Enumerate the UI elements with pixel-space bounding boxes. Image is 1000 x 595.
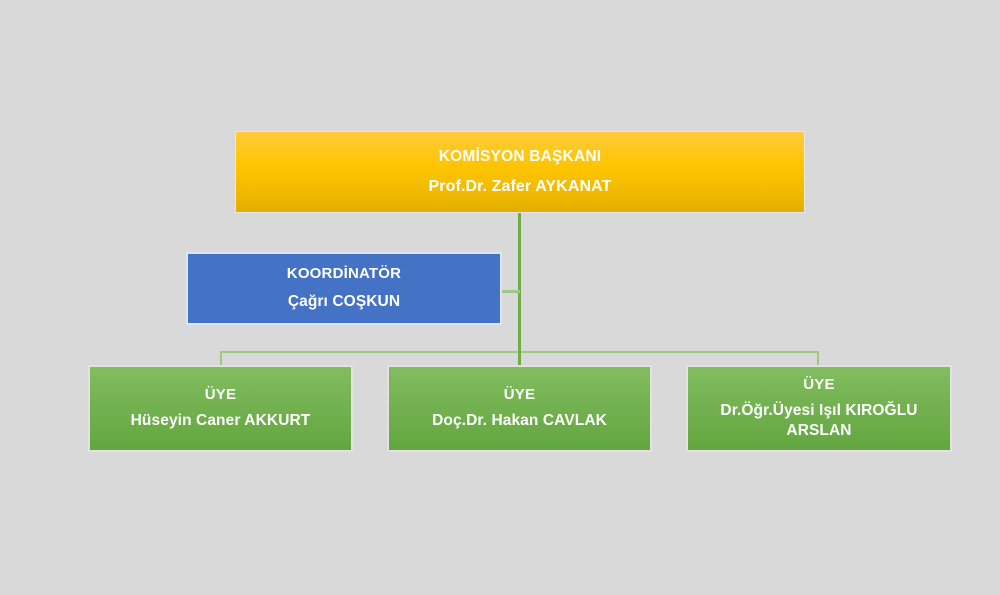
node-commission-chief[interactable]: KOMİSYON BAŞKANI Prof.Dr. Zafer AYKANAT: [235, 131, 805, 213]
node-member-1[interactable]: ÜYE Hüseyin Caner AKKURT: [88, 365, 353, 452]
node-role-label: ÜYE: [504, 386, 535, 404]
node-person-name: Hüseyin Caner AKKURT: [131, 412, 311, 431]
node-role-label: KOMİSYON BAŞKANI: [439, 148, 602, 167]
connector-drop-member-3: [817, 351, 819, 366]
node-person-name: Doç.Dr. Hakan CAVLAK: [432, 412, 607, 431]
node-role-label: ÜYE: [803, 376, 834, 394]
connector-drop-member-1: [220, 351, 222, 366]
node-member-2[interactable]: ÜYE Doç.Dr. Hakan CAVLAK: [387, 365, 652, 452]
node-person-name: Dr.Öğr.Üyesi Işıl KIROĞLU ARSLAN: [696, 401, 942, 441]
node-person-name: Çağrı COŞKUN: [288, 293, 400, 312]
connector-trunk-vertical: [518, 213, 521, 353]
connector-drop-member-2: [518, 351, 521, 366]
node-role-label: KOORDİNATÖR: [287, 265, 401, 283]
node-member-3[interactable]: ÜYE Dr.Öğr.Üyesi Işıl KIROĞLU ARSLAN: [686, 365, 952, 452]
org-chart: KOMİSYON BAŞKANI Prof.Dr. Zafer AYKANAT …: [0, 0, 1000, 595]
node-role-label: ÜYE: [205, 386, 236, 404]
node-coordinator[interactable]: KOORDİNATÖR Çağrı COŞKUN: [186, 252, 502, 325]
node-person-name: Prof.Dr. Zafer AYKANAT: [429, 177, 612, 197]
connector-coordinator-branch: [500, 290, 520, 293]
